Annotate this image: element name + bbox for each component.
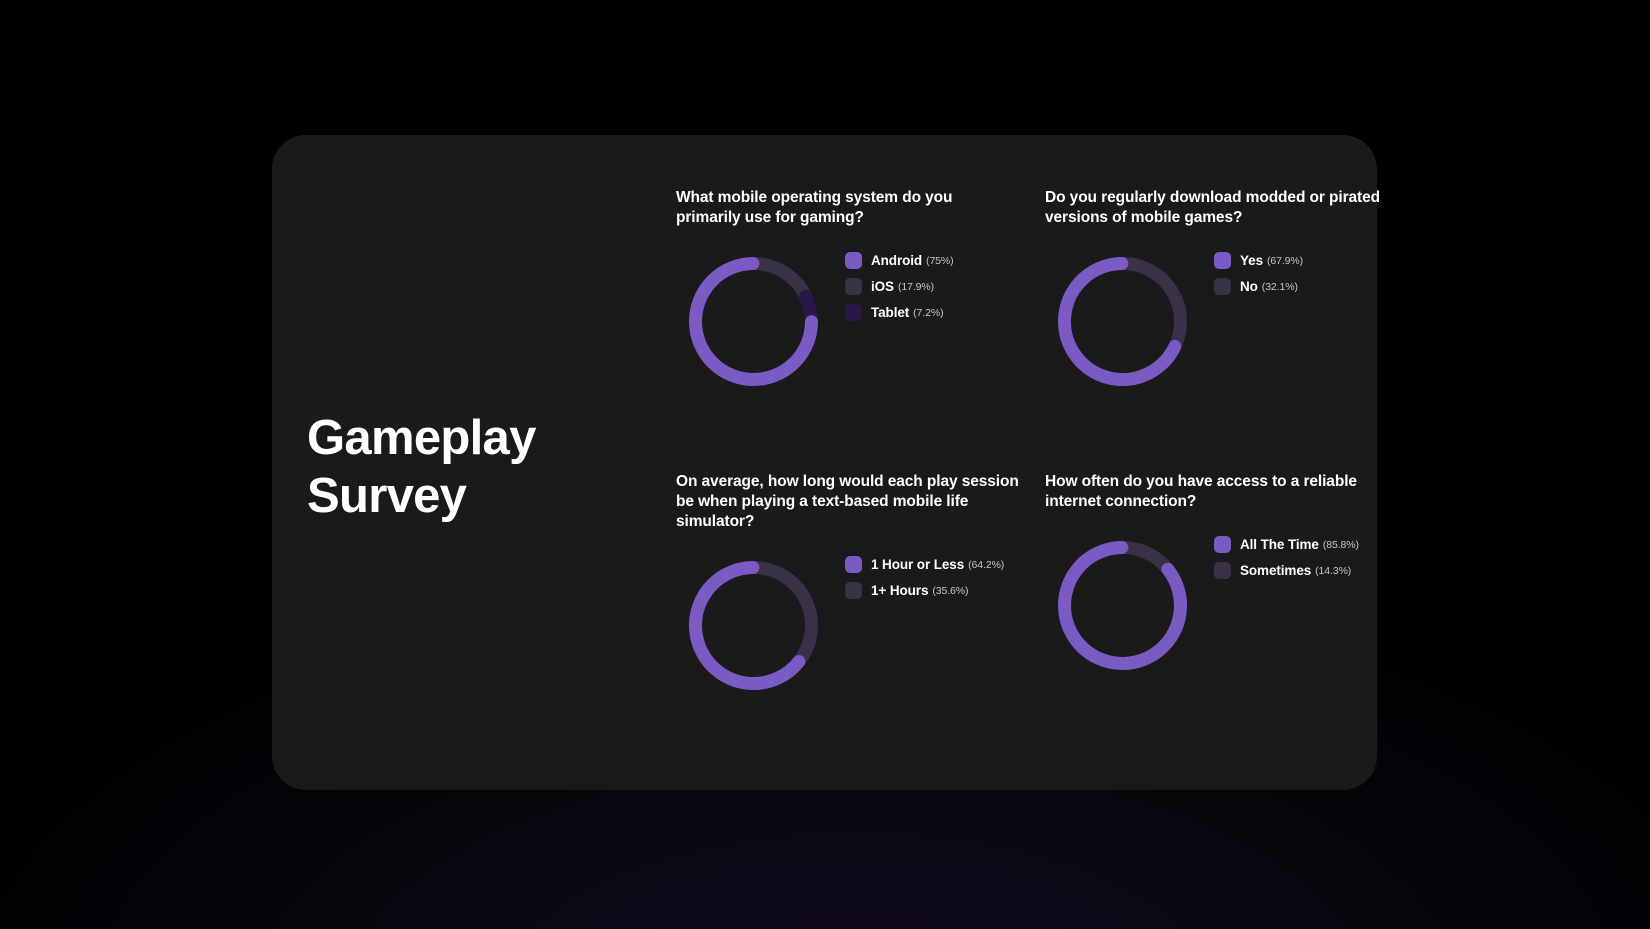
legend-item: Sometimes(14.3%) bbox=[1214, 562, 1359, 579]
legend-swatch bbox=[845, 582, 862, 599]
legend-label: Sometimes bbox=[1240, 563, 1311, 578]
chart-title-0: What mobile operating system do you prim… bbox=[676, 188, 1021, 228]
legend-item: No(32.1%) bbox=[1214, 278, 1303, 295]
legend-label: Android bbox=[871, 253, 922, 268]
donut-chart-3 bbox=[1045, 528, 1200, 683]
donut-chart-1 bbox=[1045, 244, 1200, 399]
chart-cell-0: What mobile operating system do you prim… bbox=[676, 188, 1056, 399]
legend-item: All The Time(85.8%) bbox=[1214, 536, 1359, 553]
legend-percent: (35.6%) bbox=[932, 585, 968, 597]
legend-swatch bbox=[1214, 536, 1231, 553]
legend-item: Tablet(7.2%) bbox=[845, 304, 954, 321]
legend-label: Tablet bbox=[871, 305, 909, 320]
legend-percent: (32.1%) bbox=[1262, 281, 1298, 293]
chart-legend-2: 1 Hour or Less(64.2%)1+ Hours(35.6%) bbox=[845, 548, 1004, 599]
legend-label: iOS bbox=[871, 279, 894, 294]
donut-svg bbox=[1045, 528, 1200, 683]
chart-legend-1: Yes(67.9%)No(32.1%) bbox=[1214, 244, 1303, 295]
donut-svg bbox=[1045, 244, 1200, 399]
survey-infographic-page: Gameplay Survey What mobile operating sy… bbox=[0, 0, 1650, 929]
legend-label: 1+ Hours bbox=[871, 583, 928, 598]
page-title: Gameplay Survey bbox=[307, 409, 577, 525]
legend-swatch bbox=[1214, 278, 1231, 295]
legend-percent: (85.8%) bbox=[1323, 539, 1359, 551]
legend-swatch bbox=[845, 278, 862, 295]
page-title-line-2: Survey bbox=[307, 467, 577, 525]
legend-label: No bbox=[1240, 279, 1258, 294]
chart-title-3: How often do you have access to a reliab… bbox=[1045, 472, 1390, 512]
legend-item: Yes(67.9%) bbox=[1214, 252, 1303, 269]
legend-swatch bbox=[1214, 562, 1231, 579]
legend-swatch bbox=[845, 252, 862, 269]
donut-svg bbox=[676, 244, 831, 399]
chart-row-0: Android(75%)iOS(17.9%)Tablet(7.2%) bbox=[676, 244, 1056, 399]
donut-svg bbox=[676, 548, 831, 703]
legend-percent: (75%) bbox=[926, 255, 954, 267]
legend-swatch bbox=[845, 556, 862, 573]
legend-item: iOS(17.9%) bbox=[845, 278, 954, 295]
legend-percent: (67.9%) bbox=[1267, 255, 1303, 267]
legend-percent: (64.2%) bbox=[968, 559, 1004, 571]
chart-row-3: All The Time(85.8%)Sometimes(14.3%) bbox=[1045, 528, 1425, 683]
chart-legend-0: Android(75%)iOS(17.9%)Tablet(7.2%) bbox=[845, 244, 954, 321]
chart-cell-2: On average, how long would each play ses… bbox=[676, 472, 1056, 703]
legend-swatch bbox=[1214, 252, 1231, 269]
chart-cell-1: Do you regularly download modded or pira… bbox=[1045, 188, 1425, 399]
donut-segment bbox=[696, 568, 799, 684]
donut-segment bbox=[754, 568, 812, 662]
legend-percent: (17.9%) bbox=[898, 281, 934, 293]
chart-title-1: Do you regularly download modded or pira… bbox=[1045, 188, 1390, 228]
chart-row-2: 1 Hour or Less(64.2%)1+ Hours(35.6%) bbox=[676, 548, 1056, 703]
chart-legend-3: All The Time(85.8%)Sometimes(14.3%) bbox=[1214, 528, 1359, 579]
donut-chart-0 bbox=[676, 244, 831, 399]
legend-label: Yes bbox=[1240, 253, 1263, 268]
legend-item: 1+ Hours(35.6%) bbox=[845, 582, 1004, 599]
chart-cell-3: How often do you have access to a reliab… bbox=[1045, 472, 1425, 683]
chart-title-2: On average, how long would each play ses… bbox=[676, 472, 1026, 532]
legend-item: Android(75%) bbox=[845, 252, 954, 269]
legend-swatch bbox=[845, 304, 862, 321]
donut-segment bbox=[754, 264, 806, 296]
donut-segment bbox=[1123, 264, 1181, 346]
legend-label: All The Time bbox=[1240, 537, 1319, 552]
legend-label: 1 Hour or Less bbox=[871, 557, 964, 572]
page-title-line-1: Gameplay bbox=[307, 409, 577, 467]
legend-percent: (14.3%) bbox=[1315, 565, 1351, 577]
legend-percent: (7.2%) bbox=[913, 307, 943, 319]
donut-segment bbox=[1065, 548, 1181, 664]
donut-segment bbox=[1123, 548, 1168, 569]
legend-item: 1 Hour or Less(64.2%) bbox=[845, 556, 1004, 573]
donut-chart-2 bbox=[676, 548, 831, 703]
chart-row-1: Yes(67.9%)No(32.1%) bbox=[1045, 244, 1425, 399]
